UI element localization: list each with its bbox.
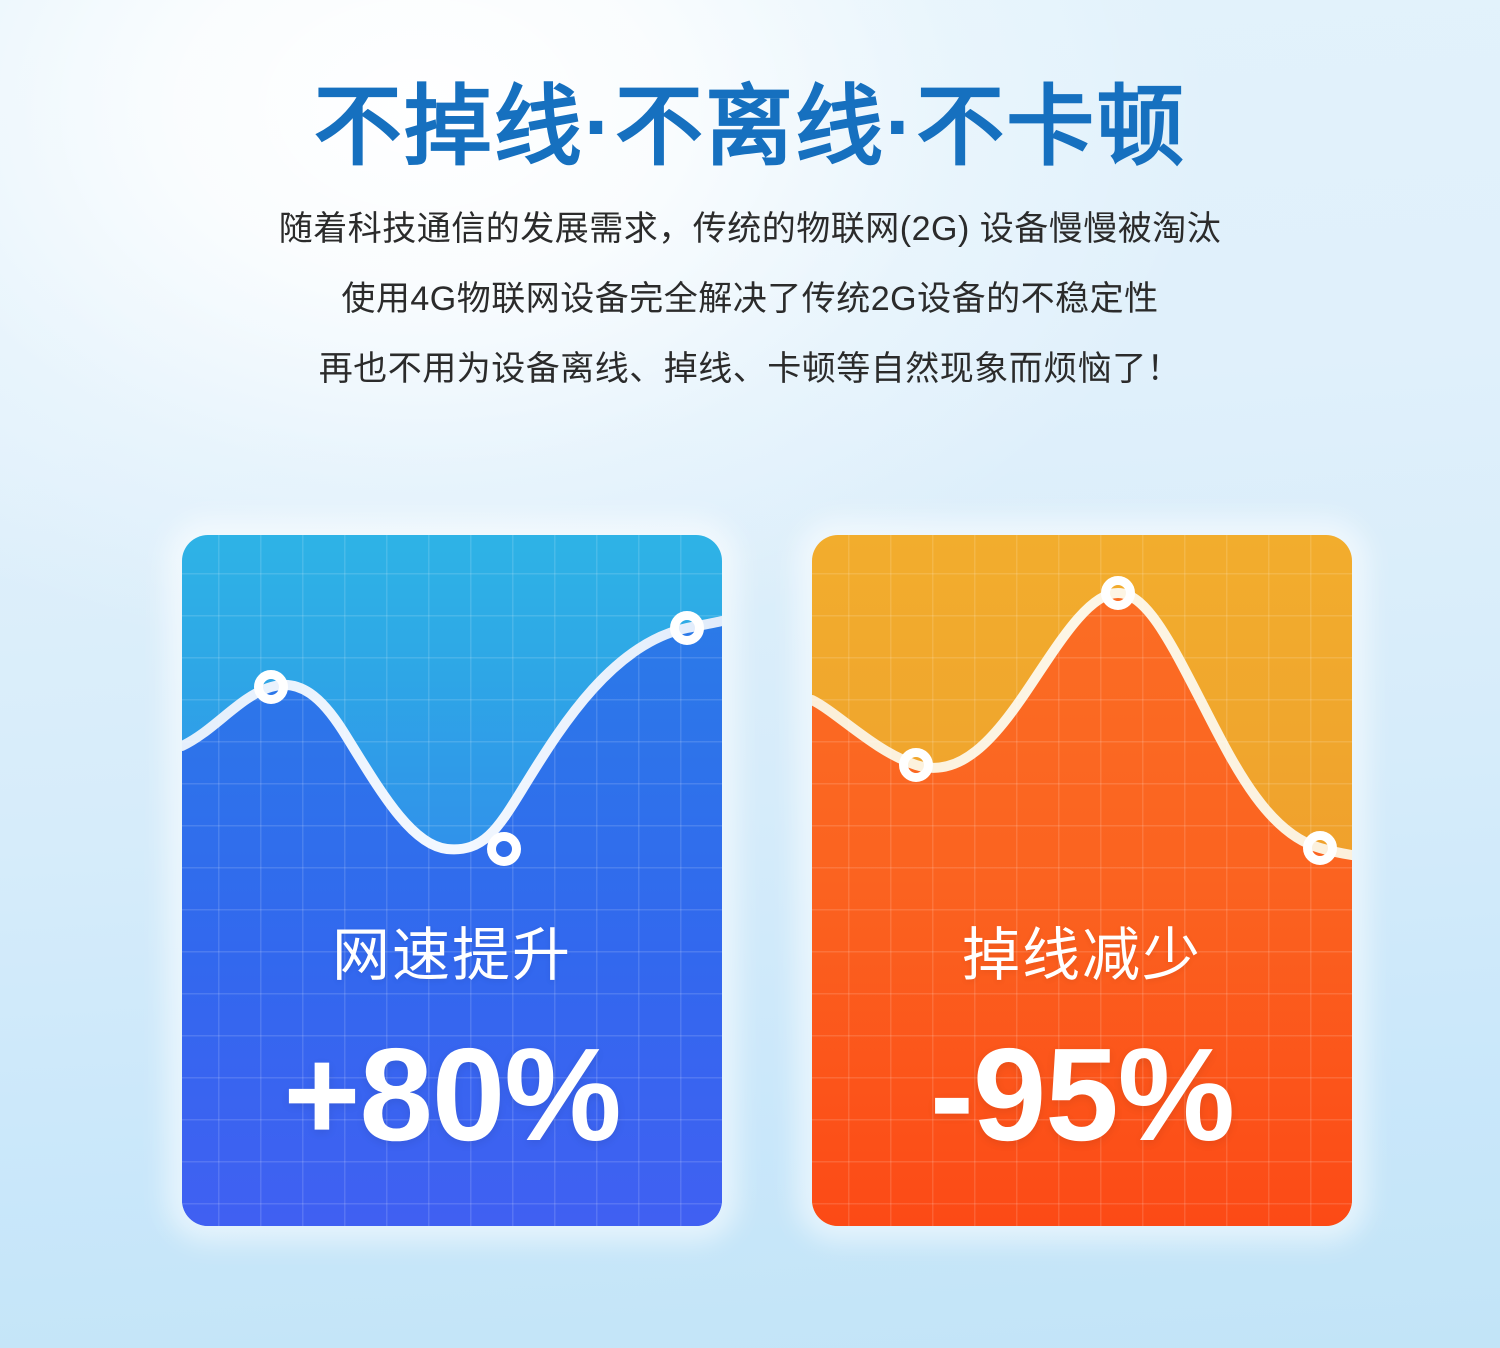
- subtitle-block: 随着科技通信的发展需求，传统的物联网(2G) 设备慢慢被淘汰 使用4G物联网设备…: [0, 212, 1500, 386]
- page-title: 不掉线·不离线·不卡顿: [0, 0, 1500, 174]
- stat-cards: 网速提升 +80%: [0, 535, 1500, 1235]
- subtitle-line-1: 随着科技通信的发展需求，传统的物联网(2G) 设备慢慢被淘汰: [0, 212, 1500, 246]
- promo-page: 不掉线·不离线·不卡顿 随着科技通信的发展需求，传统的物联网(2G) 设备慢慢被…: [0, 0, 1500, 1348]
- subtitle-line-3: 再也不用为设备离线、掉线、卡顿等自然现象而烦恼了！: [0, 352, 1500, 386]
- card-value-dropout: -95%: [812, 1029, 1352, 1161]
- card-value-speed: +80%: [182, 1029, 722, 1161]
- card-caption-speed: 网速提升 +80%: [182, 927, 722, 1161]
- subtitle-line-2: 使用4G物联网设备完全解决了传统2G设备的不稳定性: [0, 282, 1500, 316]
- stat-card-speed[interactable]: 网速提升 +80%: [182, 535, 722, 1226]
- stat-card-dropout[interactable]: 掉线减少 -95%: [812, 535, 1352, 1226]
- card-caption-dropout: 掉线减少 -95%: [812, 927, 1352, 1161]
- card-label-speed: 网速提升: [182, 927, 722, 985]
- header: 不掉线·不离线·不卡顿 随着科技通信的发展需求，传统的物联网(2G) 设备慢慢被…: [0, 0, 1500, 386]
- card-label-dropout: 掉线减少: [812, 927, 1352, 985]
